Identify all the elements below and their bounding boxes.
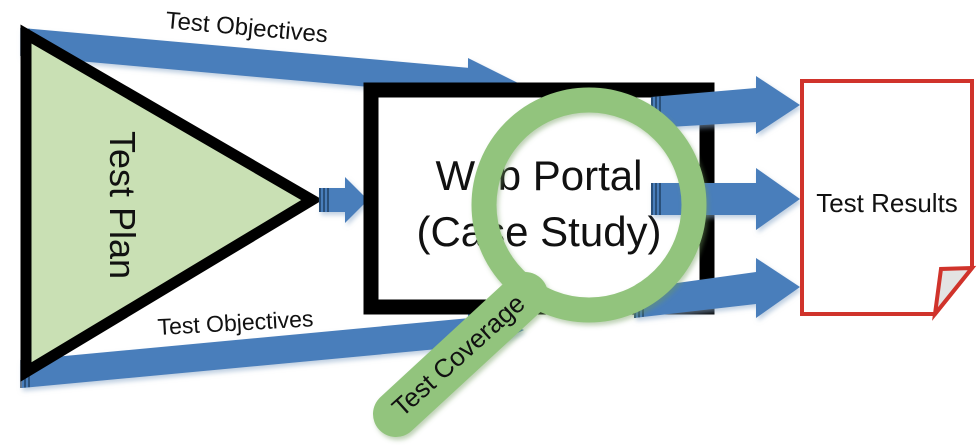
connector-label-top-objectives: Test Objectives <box>164 7 328 48</box>
shape-test-results[interactable]: Test Results <box>802 81 972 314</box>
arrow-middle-left <box>319 177 368 223</box>
test-plan-label: Test Plan <box>102 131 143 279</box>
connector-label-bottom-objectives: Test Objectives <box>157 305 314 340</box>
web-portal-label-line2: (Case Study) <box>416 208 661 255</box>
diagram-canvas: Test Objectives Test Objectives Test Pla… <box>0 0 980 446</box>
connector-middle-objectives[interactable] <box>319 177 368 223</box>
test-results-label: Test Results <box>816 188 958 218</box>
web-portal-label-line1: Web Portal <box>436 152 643 199</box>
diagram-svg: Test Objectives Test Objectives Test Pla… <box>0 0 980 446</box>
test-results-fold-corner-icon <box>935 268 972 314</box>
